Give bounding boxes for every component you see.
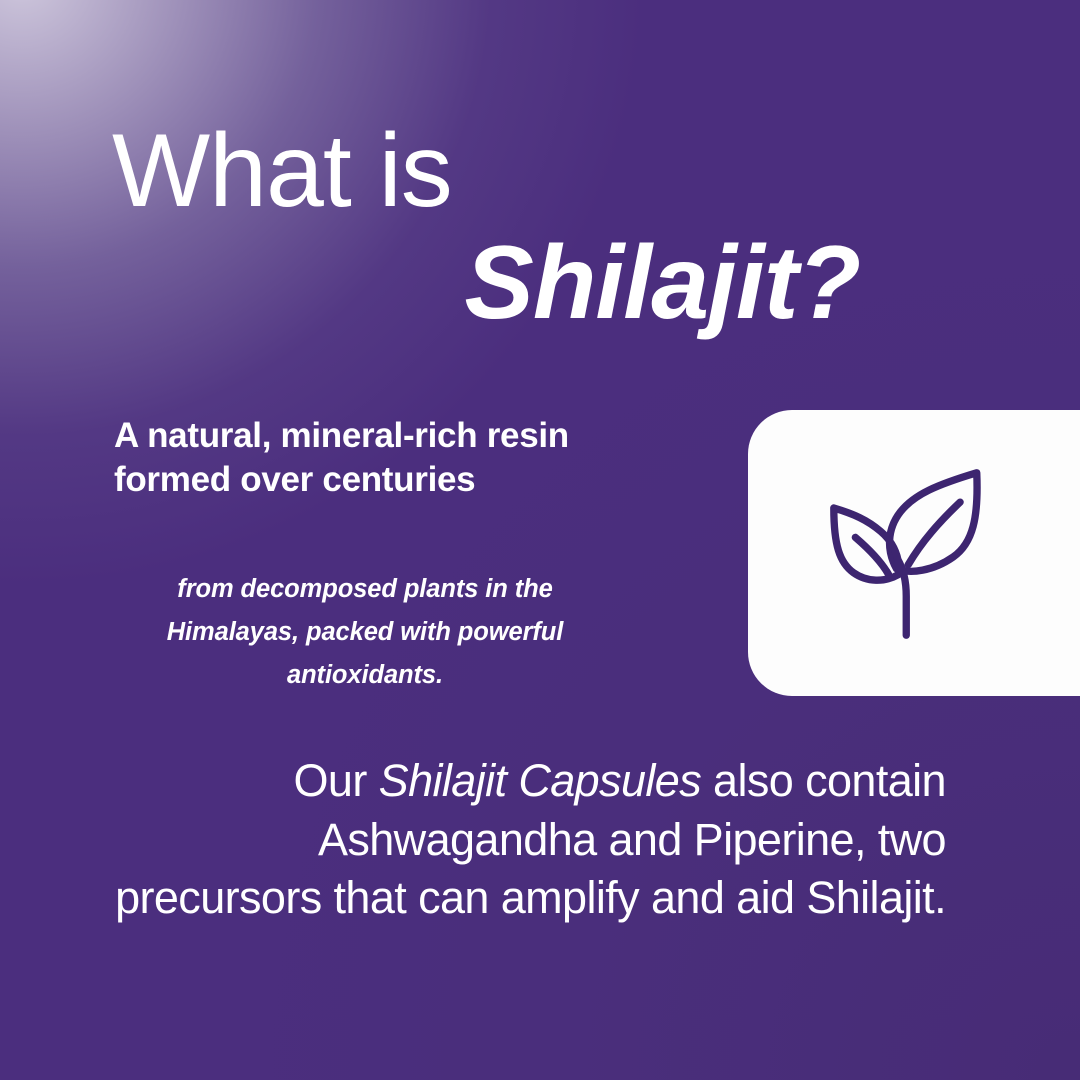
outro-prefix: Our bbox=[294, 755, 379, 806]
promo-slide: What is Shilajit? A natural, mineral-ric… bbox=[0, 0, 1080, 1080]
lead-description: A natural, mineral-rich resin formed ove… bbox=[114, 414, 654, 502]
outro-paragraph: Our Shilajit Capsules also contain Ashwa… bbox=[110, 752, 946, 928]
page-title: What is Shilajit? bbox=[112, 118, 872, 342]
leaf-sprout-icon bbox=[820, 461, 1016, 647]
sub-description: from decomposed plants in the Himalayas,… bbox=[112, 568, 618, 696]
leaf-icon-card bbox=[748, 410, 1080, 696]
outro-emphasis: Shilajit Capsules bbox=[379, 755, 701, 806]
title-line-what-is: What is bbox=[112, 118, 872, 225]
title-line-shilajit: Shilajit? bbox=[112, 225, 872, 341]
